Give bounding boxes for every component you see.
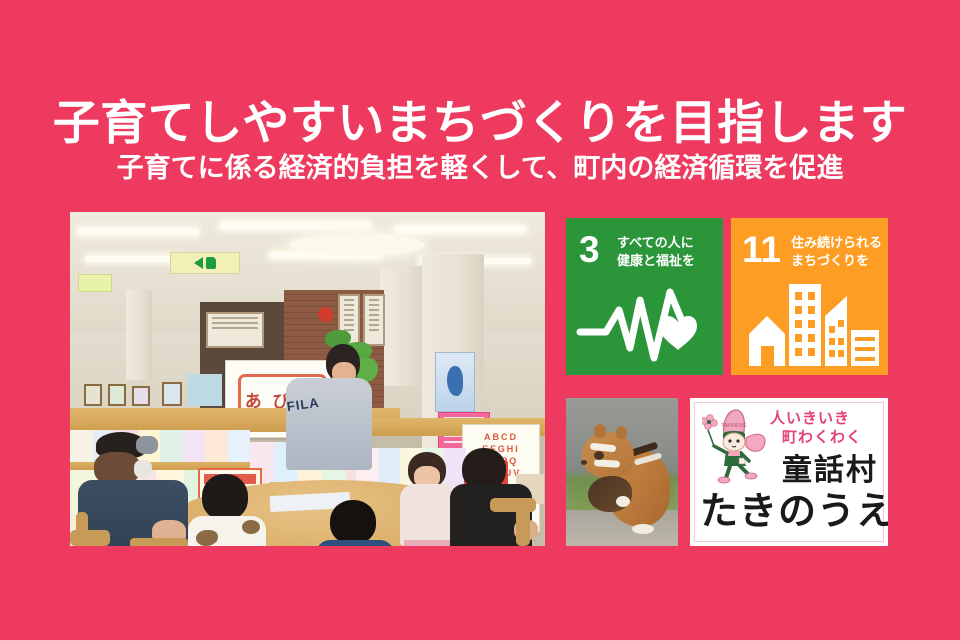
pillar [126,290,152,380]
child-hair [330,500,376,544]
ceiling-light [220,222,370,229]
notice-board [206,312,264,348]
chair-back [516,508,530,546]
logo-takinoue-name: たきのうえ [700,480,878,535]
chipmunk-foot [632,524,654,534]
hoodie-logo-text: FILA [286,393,334,433]
exit-arrow-icon [194,257,203,269]
face-mask [134,460,152,478]
framed-photo [132,386,150,406]
chipmunk-nose [581,460,587,465]
sdg-11-number: 11 [742,231,781,268]
fairy-mascot-icon: TAKINOUE [702,408,776,486]
takinoue-town-logo: TAKINOUE [690,398,888,546]
framed-photo [84,384,102,406]
chipmunk-photo [566,398,678,546]
ceiling-light [78,228,198,235]
round-ceiling-lamp [290,234,425,256]
slide-root: 子育てしやすいまちづくりを目指します 子育てに係る経済的負担を軽くして、町内の経… [0,0,960,640]
sdg-3-number: 3 [579,231,600,268]
sdg-3-label: すべての人に 健康と福祉を [617,234,695,269]
logo-tagline-line2: 町わくわく [782,426,862,447]
cap-detail [136,436,158,454]
chair [130,538,188,546]
emergency-button [318,307,333,322]
child-skirt [404,540,454,546]
chipmunk-ear [616,426,627,439]
ceiling-light [395,226,525,233]
blue-poster [435,352,475,412]
pillar [380,266,426,386]
cityscape-buildings-icon [731,270,888,370]
framed-photo [108,384,126,406]
sdg-badge-3: 3 すべての人に 健康と福祉を [566,218,723,375]
notice-board [363,294,385,346]
svg-text:TAKINOUE: TAKINOUE [721,423,747,429]
child-hair [202,474,248,520]
shirt-spot [242,520,260,534]
chair-back [76,512,88,546]
chipmunk-eye [594,451,604,460]
small-wall-sign [78,274,112,292]
sdg-badge-11: 11 住み続けられる まちづくりを [731,218,888,375]
chipmunk-head [582,432,634,478]
emergency-exit-sign [170,252,240,274]
heartbeat-pulse-icon [566,270,723,370]
framed-photo [162,382,182,406]
page-title: 子育てしやすいまちづくりを目指します [0,98,960,147]
child-shirt [316,540,394,546]
chipmunk-paw [616,496,630,507]
logo-tagline-line1: 人いきいき [770,407,850,428]
chipmunk-ear [594,424,606,438]
display-box [188,374,222,406]
exit-runner-icon [206,257,216,269]
sdg-11-label: 住み続けられる まちづくりを [791,234,882,269]
page-subtitle: 子育てに係る経済的負担を軽くして、町内の経済循環を促進 [0,154,960,184]
library-photo: あ び ぞ ABCD EFGHI NOPQ RSTUV [70,212,545,546]
